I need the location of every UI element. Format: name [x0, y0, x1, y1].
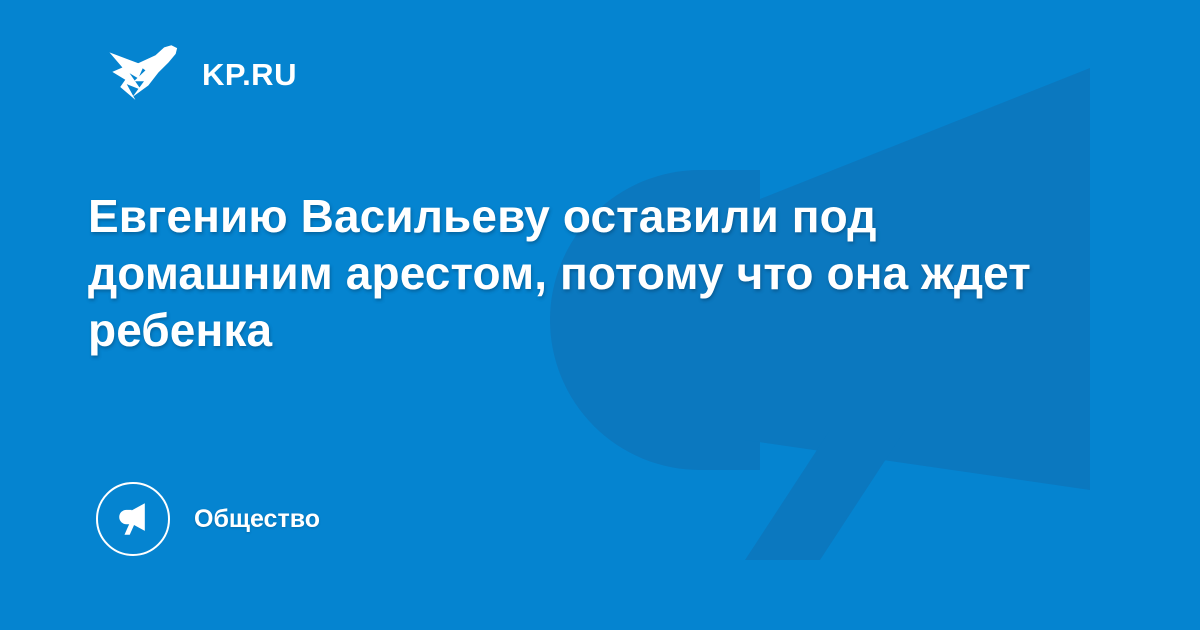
share-card: KP.RU Евгению Васильеву оставили под дом… [0, 0, 1200, 630]
category-badge[interactable]: Общество [96, 482, 320, 556]
category-icon-circle [96, 482, 170, 556]
brand-wordmark: KP.RU [202, 59, 297, 90]
page-title: Евгению Васильеву оставили под домашним … [88, 188, 1038, 359]
megaphone-icon [112, 498, 154, 540]
category-label: Общество [194, 507, 320, 532]
swallow-bird-icon [108, 38, 180, 110]
brand-header: KP.RU [108, 38, 297, 110]
